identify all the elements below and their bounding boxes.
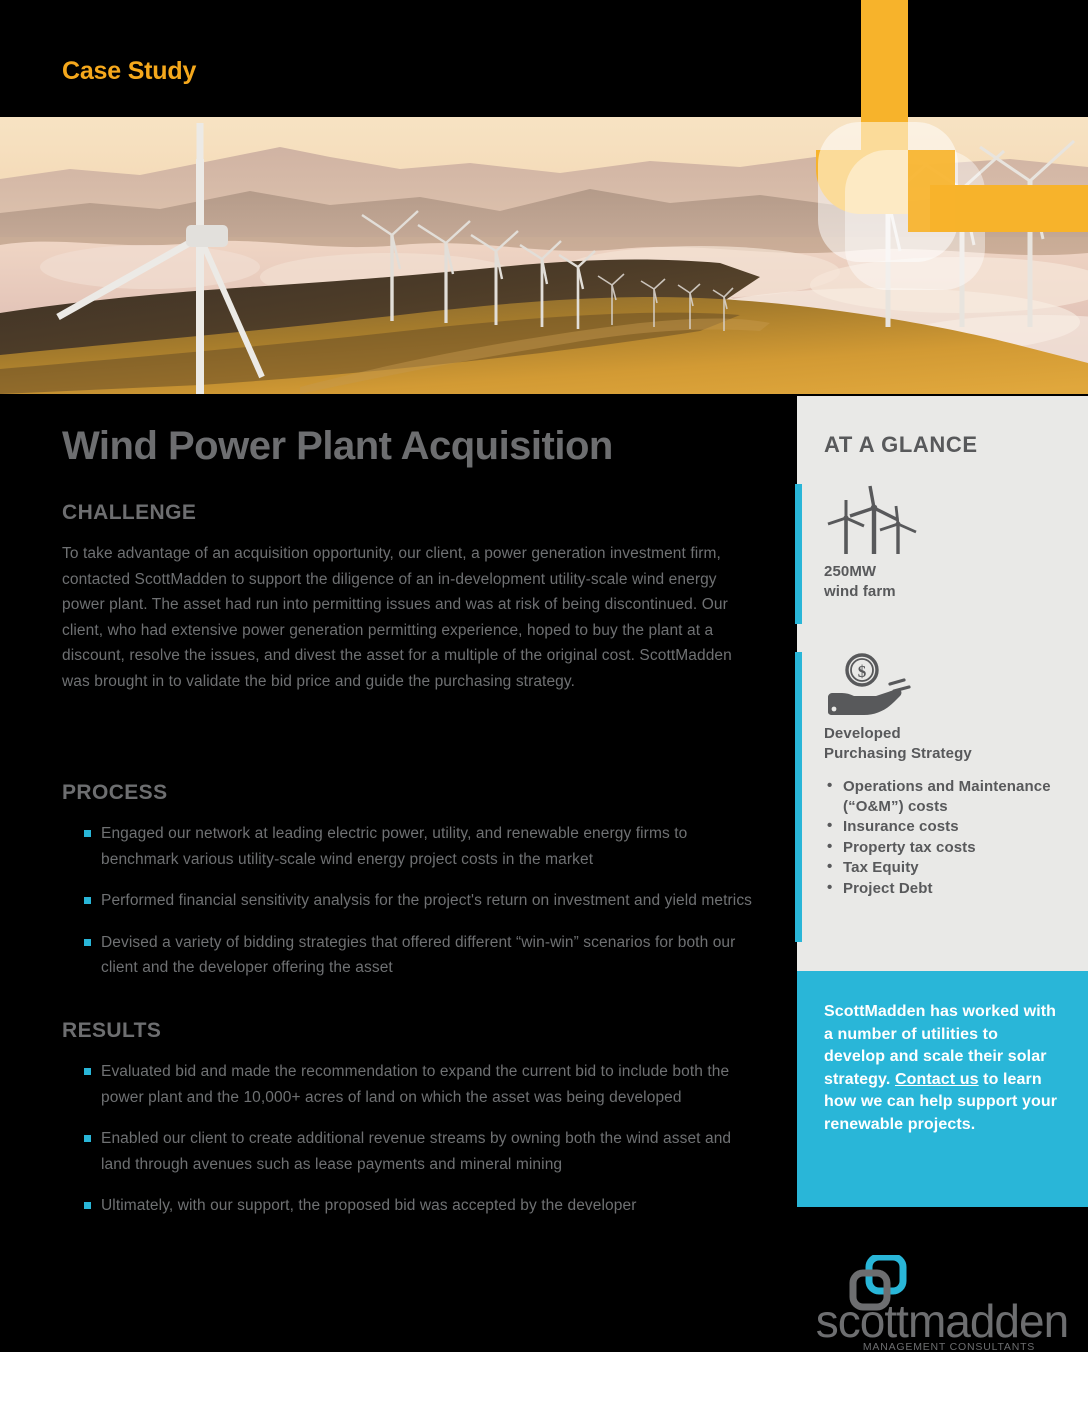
hand-holding-dollar-coin-icon: $ <box>824 652 1069 718</box>
section-challenge: CHALLENGE To take advantage of an acquis… <box>62 501 762 694</box>
list-item: Project Debt <box>824 879 1069 899</box>
glance-label-line2: wind farm <box>824 582 1069 602</box>
list-item: Devised a variety of bidding strategies … <box>62 930 762 981</box>
logo-wordmark: scottmadden <box>816 1295 1068 1347</box>
list-item: Enabled our client to create additional … <box>62 1126 762 1177</box>
list-item: Property tax costs <box>824 838 1069 858</box>
glance-item-purchasing-strategy: $ Developed Purchasing Strategy Operatio… <box>824 652 1069 899</box>
section-results: RESULTS Evaluated bid and made the recom… <box>62 1019 762 1235</box>
at-a-glance-sidebar: AT A GLANCE <box>797 396 1088 971</box>
wind-turbines-icon <box>824 484 1069 556</box>
sidebar-title: AT A GLANCE <box>824 432 978 458</box>
list-item: Insurance costs <box>824 817 1069 837</box>
svg-text:$: $ <box>858 662 867 681</box>
accent-bar-2 <box>795 652 802 942</box>
results-heading: RESULTS <box>62 1019 762 1043</box>
list-item: Performed financial sensitivity analysis… <box>62 888 762 914</box>
page-title: Wind Power Plant Acquisition <box>62 424 613 469</box>
glance-label-line2: Purchasing Strategy <box>824 744 1069 764</box>
cta-panel: ScottMadden has worked with a number of … <box>797 971 1088 1207</box>
results-bullet-list: Evaluated bid and made the recommendatio… <box>62 1059 762 1219</box>
list-item: Ultimately, with our support, the propos… <box>62 1193 762 1219</box>
list-item: Engaged our network at leading electric … <box>62 821 762 872</box>
glance-label-line1: Developed <box>824 724 1069 744</box>
purchasing-strategy-bullet-list: Operations and Maintenance (“O&M”) costs… <box>824 777 1069 898</box>
hero-image <box>0 117 1088 394</box>
logo-tagline: MANAGEMENT CONSULTANTS <box>863 1341 1035 1352</box>
cta-text: ScottMadden has worked with a number of … <box>824 1001 1058 1136</box>
contact-us-link[interactable]: Contact us <box>895 1071 979 1088</box>
page-header: Case Study <box>0 0 1088 117</box>
process-bullet-list: Engaged our network at leading electric … <box>62 821 762 981</box>
list-item: Evaluated bid and made the recommendatio… <box>62 1059 762 1110</box>
process-heading: PROCESS <box>62 781 762 805</box>
accent-bar-1 <box>795 484 802 624</box>
wind-farm-photo <box>0 117 1088 394</box>
list-item: Tax Equity <box>824 858 1069 878</box>
case-study-label: Case Study <box>62 57 196 86</box>
glance-item-wind-farm: 250MW wind farm <box>824 484 1069 601</box>
challenge-heading: CHALLENGE <box>62 501 762 525</box>
challenge-body: To take advantage of an acquisition oppo… <box>62 541 762 694</box>
case-study-page: Case Study <box>0 0 1088 1352</box>
list-item: Operations and Maintenance (“O&M”) costs <box>824 777 1069 816</box>
scottmadden-logo: scottmadden MANAGEMENT CONSULTANTS <box>797 1255 1088 1352</box>
section-process: PROCESS Engaged our network at leading e… <box>62 781 762 997</box>
glance-label-line1: 250MW <box>824 562 1069 582</box>
main-content: Wind Power Plant Acquisition CHALLENGE T… <box>0 394 797 1352</box>
